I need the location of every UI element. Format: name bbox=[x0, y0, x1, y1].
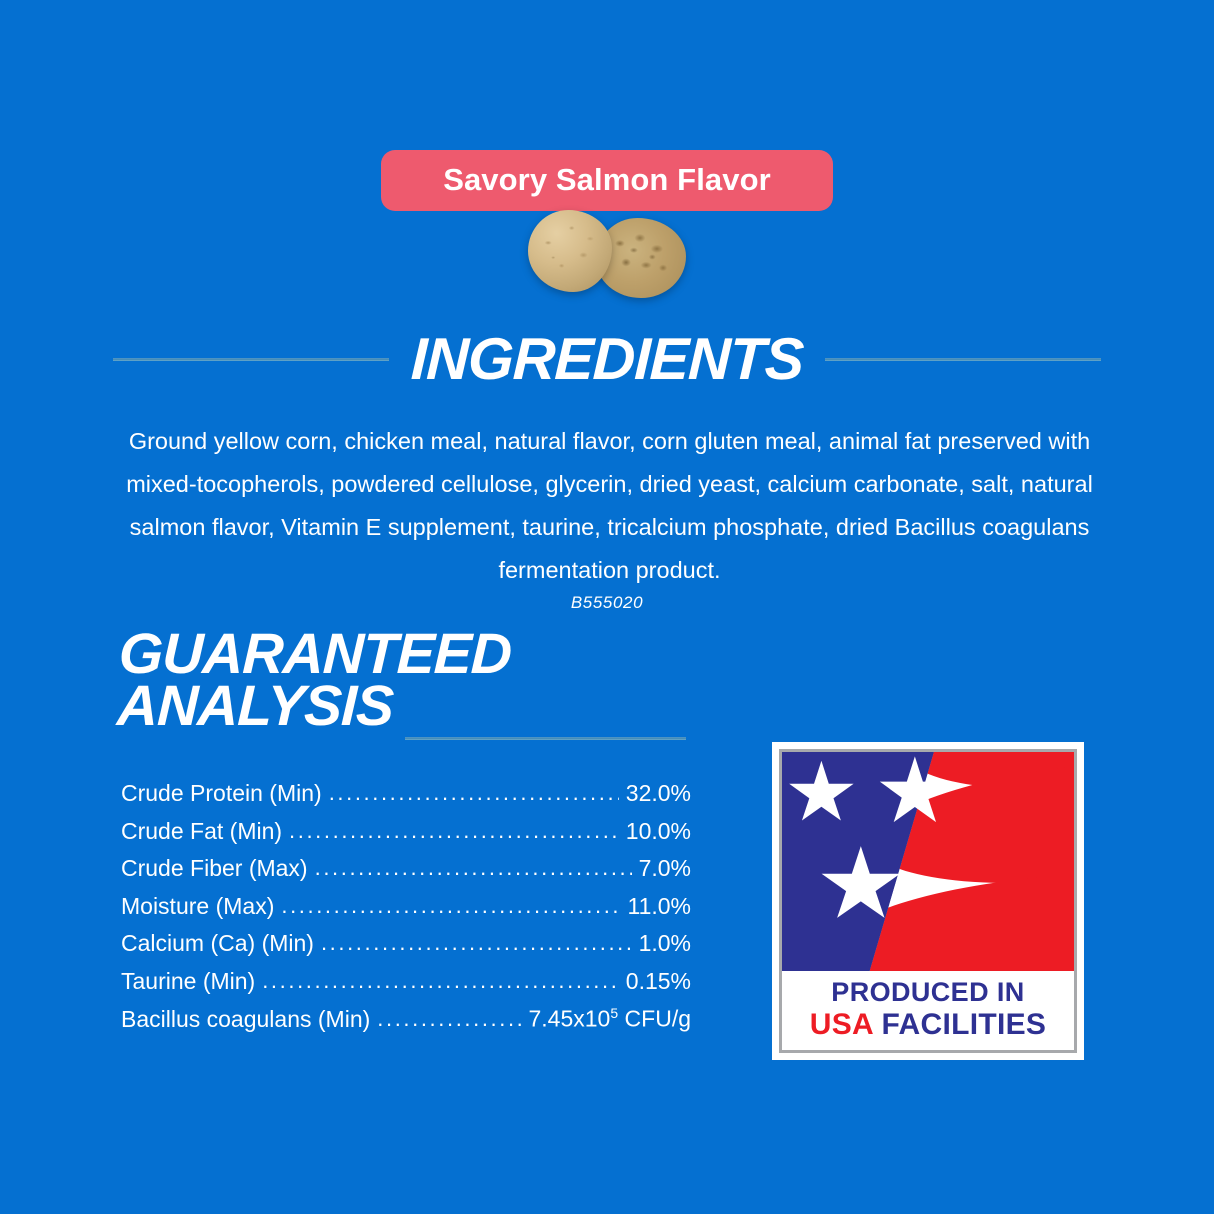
table-row: Moisture (Max) .........................… bbox=[121, 893, 691, 931]
heading-rule-right bbox=[825, 358, 1101, 361]
row-value: 10.0% bbox=[626, 818, 691, 845]
badge-caption: PRODUCED IN USA FACILITIES bbox=[782, 971, 1074, 1050]
badge-caption-line1: PRODUCED IN bbox=[782, 977, 1074, 1008]
ingredients-heading: INGREDIENTS bbox=[410, 330, 804, 389]
badge-caption-line2: USA FACILITIES bbox=[782, 1008, 1074, 1041]
flavor-banner-wrap: Savory Salmon Flavor bbox=[0, 150, 1214, 211]
row-label: Crude Fiber (Max) bbox=[121, 855, 308, 882]
leader-dots: ........................................… bbox=[281, 893, 620, 919]
table-row: Crude Fiber (Max) ......................… bbox=[121, 855, 691, 893]
badge-inner-frame: PRODUCED IN USA FACILITIES bbox=[779, 749, 1077, 1053]
guaranteed-analysis-heading-text: GUARANTEEDANALYSIS bbox=[116, 628, 720, 732]
batch-code: B555020 bbox=[0, 593, 1214, 613]
guaranteed-analysis-rule bbox=[405, 737, 686, 740]
flavor-banner: Savory Salmon Flavor bbox=[381, 150, 833, 211]
row-value-unit: CFU/g bbox=[618, 1006, 691, 1032]
produced-in-usa-badge: PRODUCED IN USA FACILITIES bbox=[772, 742, 1084, 1060]
badge-caption-facilities: FACILITIES bbox=[873, 1008, 1046, 1041]
kibble-whole-icon bbox=[528, 210, 612, 292]
ingredients-text: Ground yellow corn, chicken meal, natura… bbox=[118, 420, 1101, 592]
leader-dots: ........................................… bbox=[289, 818, 619, 844]
table-row: Calcium (Ca) (Min) .....................… bbox=[121, 930, 691, 968]
leader-dots: ........................................… bbox=[315, 855, 632, 881]
ingredients-heading-row: INGREDIENTS bbox=[113, 330, 1101, 389]
kibble-illustration bbox=[0, 204, 1214, 314]
us-flag-icon bbox=[782, 752, 1074, 971]
row-value: 32.0% bbox=[626, 780, 691, 807]
product-label-panel: Savory Salmon Flavor INGREDIENTS Ground … bbox=[0, 0, 1214, 1214]
row-label: Calcium (Ca) (Min) bbox=[121, 930, 314, 957]
row-label: Bacillus coagulans (Min) bbox=[121, 1006, 370, 1033]
row-value-base: 7.45x10 bbox=[529, 1006, 611, 1032]
table-row: Bacillus coagulans (Min) ...............… bbox=[121, 1005, 691, 1043]
row-label: Crude Protein (Min) bbox=[121, 780, 322, 807]
flavor-banner-label: Savory Salmon Flavor bbox=[427, 164, 787, 195]
guaranteed-analysis-table: Crude Protein (Min) ....................… bbox=[121, 780, 691, 1043]
leader-dots: ........................................… bbox=[329, 780, 619, 806]
table-row: Crude Fat (Min) ........................… bbox=[121, 818, 691, 856]
ga-heading-line2: ANALYSIS bbox=[116, 674, 394, 738]
heading-rule-left bbox=[113, 358, 389, 361]
guaranteed-analysis-heading: GUARANTEEDANALYSIS bbox=[118, 628, 718, 732]
leader-dots: ........................................… bbox=[377, 1006, 521, 1032]
table-row: Taurine (Min) ..........................… bbox=[121, 968, 691, 1006]
row-label: Taurine (Min) bbox=[121, 968, 255, 995]
ingredients-body: Ground yellow corn, chicken meal, natura… bbox=[118, 420, 1101, 592]
leader-dots: ........................................… bbox=[321, 930, 632, 956]
badge-caption-usa: USA bbox=[810, 1008, 873, 1041]
table-row: Crude Protein (Min) ....................… bbox=[121, 780, 691, 818]
row-value: 1.0% bbox=[639, 930, 691, 957]
leader-dots: ........................................… bbox=[262, 968, 619, 994]
row-label: Crude Fat (Min) bbox=[121, 818, 282, 845]
row-value: 0.15% bbox=[626, 968, 691, 995]
row-value: 7.0% bbox=[639, 855, 691, 882]
row-value-exponent: 5 bbox=[610, 1005, 618, 1021]
row-label: Moisture (Max) bbox=[121, 893, 274, 920]
row-value: 11.0% bbox=[627, 893, 691, 920]
row-value: 7.45x105 CFU/g bbox=[529, 1005, 692, 1033]
